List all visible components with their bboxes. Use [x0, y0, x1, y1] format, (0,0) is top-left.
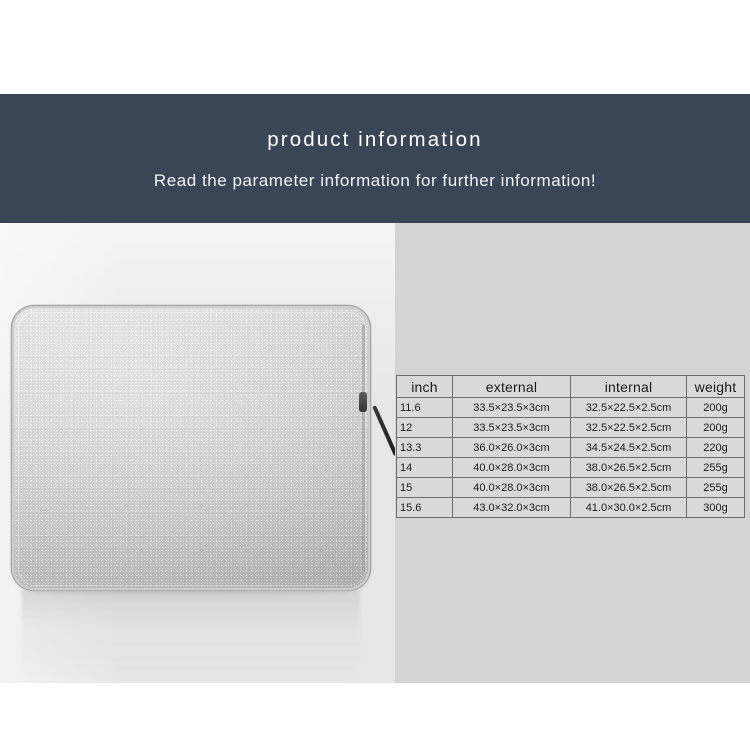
page-subtitle: Read the parameter information for furth… [154, 172, 596, 189]
cell-external: 33.5×23.5×3cm [453, 398, 571, 418]
specification-table: inch external internal weight 11.6 33.5×… [396, 375, 745, 518]
cell-weight: 255g [687, 458, 745, 478]
table-row: 15.6 43.0×32.0×3cm 41.0×30.0×2.5cm 300g [397, 498, 745, 518]
product-photo-panel [0, 223, 395, 683]
cell-internal: 32.5×22.5×2.5cm [571, 418, 687, 438]
page-title: product information [267, 130, 482, 151]
cell-inch: 13.3 [397, 438, 453, 458]
table-header-row: inch external internal weight [397, 376, 745, 398]
top-white-band [0, 0, 750, 94]
cell-weight: 255g [687, 478, 745, 498]
spec-table-panel: inch external internal weight 11.6 33.5×… [395, 223, 750, 683]
cell-external: 40.0×28.0×3cm [453, 478, 571, 498]
product-information-page: product information Read the parameter i… [0, 0, 750, 750]
cell-external: 43.0×32.0×3cm [453, 498, 571, 518]
bottom-white-band [0, 683, 750, 750]
cell-inch: 14 [397, 458, 453, 478]
column-header-external: external [453, 376, 571, 398]
laptop-sleeve-image [14, 308, 368, 588]
cell-inch: 15 [397, 478, 453, 498]
cell-inch: 12 [397, 418, 453, 438]
column-header-inch: inch [397, 376, 453, 398]
cell-external: 40.0×28.0×3cm [453, 458, 571, 478]
column-header-internal: internal [571, 376, 687, 398]
cell-weight: 200g [687, 398, 745, 418]
cell-internal: 41.0×30.0×2.5cm [571, 498, 687, 518]
content-area: inch external internal weight 11.6 33.5×… [0, 223, 750, 683]
cell-external: 33.5×23.5×3cm [453, 418, 571, 438]
column-header-weight: weight [687, 376, 745, 398]
zipper-pull-icon [372, 405, 395, 456]
sleeve-seam [18, 312, 366, 586]
cell-internal: 38.0×26.5×2.5cm [571, 478, 687, 498]
table-row: 13.3 36.0×26.0×3cm 34.5×24.5×2.5cm 220g [397, 438, 745, 458]
cell-external: 36.0×26.0×3cm [453, 438, 571, 458]
zipper-slider-icon [359, 392, 367, 412]
table-row: 14 40.0×28.0×3cm 38.0×26.5×2.5cm 255g [397, 458, 745, 478]
cell-inch: 15.6 [397, 498, 453, 518]
cell-internal: 38.0×26.5×2.5cm [571, 458, 687, 478]
cell-weight: 200g [687, 418, 745, 438]
cell-weight: 300g [687, 498, 745, 518]
cell-internal: 32.5×22.5×2.5cm [571, 398, 687, 418]
header-banner: product information Read the parameter i… [0, 94, 750, 223]
cell-inch: 11.6 [397, 398, 453, 418]
product-reflection [22, 590, 360, 682]
table-row: 11.6 33.5×23.5×3cm 32.5×22.5×2.5cm 200g [397, 398, 745, 418]
cell-weight: 220g [687, 438, 745, 458]
zipper-track-icon [362, 324, 365, 572]
sleeve-body [14, 308, 368, 588]
cell-internal: 34.5×24.5×2.5cm [571, 438, 687, 458]
table-row: 12 33.5×23.5×3cm 32.5×22.5×2.5cm 200g [397, 418, 745, 438]
table-row: 15 40.0×28.0×3cm 38.0×26.5×2.5cm 255g [397, 478, 745, 498]
